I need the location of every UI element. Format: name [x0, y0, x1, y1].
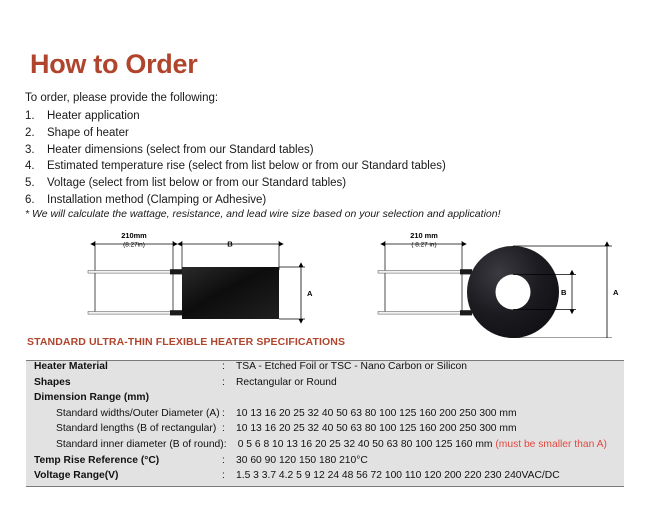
list-item-number: 2. [25, 125, 47, 142]
spec-table-heading: STANDARD ULTRA-THIN FLEXIBLE HEATER SPEC… [27, 336, 345, 348]
list-item-number: 1. [25, 108, 47, 125]
row-colon: : [222, 377, 236, 388]
list-item: 6. Installation method (Clamping or Adhe… [25, 192, 625, 209]
row-colon: : [222, 408, 236, 419]
order-steps-list: 1. Heater application 2. Shape of heater… [25, 108, 625, 209]
intro-text: To order, please provide the following: [25, 92, 218, 104]
table-row: Shapes : Rectangular or Round [26, 377, 624, 393]
rect-width-label: B [227, 240, 233, 249]
round-heater-body [467, 246, 559, 338]
list-item: 3. Heater dimensions (select from our St… [25, 142, 625, 159]
row-colon: : [222, 455, 236, 466]
specifications-table: Heater Material : TSA - Etched Foil or T… [26, 360, 624, 487]
row-label: Standard widths/Outer Diameter (A) [26, 408, 222, 419]
inner-diameter-constraint-note: (must be smaller than A) [495, 439, 607, 450]
row-label: Standard inner diameter (B of round) [26, 439, 224, 450]
row-colon: : [222, 470, 236, 481]
row-value: 1.5 3 3.7 4.2 5 9 12 24 48 56 72 100 110… [236, 470, 624, 481]
list-item: 2. Shape of heater [25, 125, 625, 142]
rectangular-heater-diagram: 210mm (8.27in) B A [88, 231, 313, 319]
list-item-label: Voltage (select from list below or from … [47, 175, 625, 192]
table-row: Dimension Range (mm) [26, 392, 624, 408]
row-label: Shapes [26, 377, 222, 388]
list-item-number: 5. [25, 175, 47, 192]
calculation-note: * We will calculate the wattage, resista… [25, 208, 501, 220]
list-item-label: Estimated temperature rise (select from … [47, 158, 625, 175]
row-value: 30 60 90 120 150 180 210°C [236, 455, 624, 466]
row-colon: : [222, 423, 236, 434]
row-value-text: 0 5 6 8 10 13 16 20 25 32 40 50 63 80 10… [238, 439, 496, 450]
row-value: 10 13 16 20 25 32 40 50 63 80 100 125 16… [236, 423, 624, 434]
rect-lead-length-in: (8.27in) [123, 242, 145, 249]
list-item-number: 3. [25, 142, 47, 159]
round-lead-length-mm: 210 mm [410, 231, 438, 240]
rect-lead-length-mm: 210mm [121, 231, 147, 240]
round-outer-label: A [613, 288, 619, 297]
row-value: TSA - Etched Foil or TSC - Nano Carbon o… [236, 361, 624, 372]
table-row: Standard widths/Outer Diameter (A) : 10 … [26, 408, 624, 424]
row-label: Voltage Range(V) [26, 470, 222, 481]
rect-height-label: A [307, 289, 313, 298]
round-lead-length-in: ( 8.27 in) [411, 242, 436, 249]
row-value: Rectangular or Round [236, 377, 624, 388]
list-item: 5. Voltage (select from list below or fr… [25, 175, 625, 192]
table-row: Voltage Range(V) : 1.5 3 3.7 4.2 5 9 12 … [26, 470, 624, 486]
list-item-label: Heater application [47, 108, 625, 125]
list-item-label: Installation method (Clamping or Adhesiv… [47, 192, 625, 209]
row-colon: : [224, 439, 238, 450]
table-row: Heater Material : TSA - Etched Foil or T… [26, 361, 624, 377]
row-value: 0 5 6 8 10 13 16 20 25 32 40 50 63 80 10… [238, 439, 624, 450]
row-label: Standard lengths (B of rectangular) [26, 423, 222, 434]
row-colon: : [222, 361, 236, 372]
list-item: 1. Heater application [25, 108, 625, 125]
row-value: 10 13 16 20 25 32 40 50 63 80 100 125 16… [236, 408, 624, 419]
table-row: Standard inner diameter (B of round) : 0… [26, 439, 624, 455]
row-label: Temp Rise Reference (°C) [26, 455, 222, 466]
list-item-number: 4. [25, 158, 47, 175]
table-row: Standard lengths (B of rectangular) : 10… [26, 423, 624, 439]
list-item-label: Heater dimensions (select from our Stand… [47, 142, 625, 159]
page-title: How to Order [30, 49, 197, 80]
row-label: Dimension Range (mm) [26, 392, 222, 403]
list-item-label: Shape of heater [47, 125, 625, 142]
table-row: Temp Rise Reference (°C) : 30 60 90 120 … [26, 455, 624, 471]
rectangular-heater-body [182, 267, 279, 319]
heater-diagram-svg: 210mm (8.27in) B A [0, 228, 650, 338]
round-heater-diagram: 210 mm ( 8.27 in) B A [378, 231, 619, 338]
round-inner-label: B [561, 288, 567, 297]
list-item-number: 6. [25, 192, 47, 209]
heater-diagrams: 210mm (8.27in) B A [0, 228, 650, 338]
row-label: Heater Material [26, 361, 222, 372]
list-item: 4. Estimated temperature rise (select fr… [25, 158, 625, 175]
